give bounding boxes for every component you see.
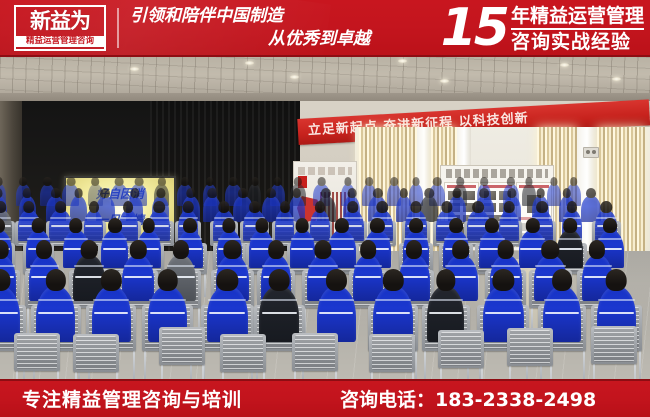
uniform-shoulder-stripe: [484, 299, 522, 301]
uniform-shoulder-stripe: [291, 238, 314, 240]
chair-back-slats: [510, 330, 550, 364]
chair: [292, 333, 338, 371]
audience-head: [441, 201, 452, 213]
audience-head: [0, 177, 2, 186]
uniform-shoulder-stripe: [208, 299, 246, 301]
audience-head: [219, 201, 230, 213]
audience-head: [563, 218, 577, 233]
uniform-reflective-stripe: [429, 312, 462, 314]
uniform-reflective-stripe: [599, 312, 634, 314]
audience-head: [589, 240, 605, 258]
audience-head: [89, 201, 99, 213]
uniform-reflective-stripe: [291, 248, 313, 250]
uniform-shoulder-stripe: [308, 265, 338, 267]
audience-head: [376, 201, 387, 213]
audience-head: [370, 218, 384, 233]
audience-head: [601, 201, 612, 213]
speaker-device-icon: [583, 147, 599, 158]
uniform-shoulder-stripe: [583, 265, 612, 267]
uniform-reflective-stripe: [401, 276, 428, 278]
audience-head: [32, 218, 45, 233]
audience-head: [249, 201, 261, 213]
chair: [220, 334, 266, 372]
footer-band: 专注精益管理咨询与培训 咨询电话：183-2338-2498: [0, 379, 650, 417]
audience-head: [314, 240, 331, 258]
header-divider: [117, 8, 119, 48]
audience-head: [157, 177, 165, 186]
uniform-shoulder-stripe: [598, 238, 623, 240]
uniform-shoulder-stripe: [30, 265, 58, 267]
audience-head: [69, 218, 83, 233]
chair-leg: [639, 349, 641, 379]
chair: [507, 328, 553, 366]
chair-back-slats: [17, 335, 57, 369]
chair-leg: [550, 364, 552, 379]
uniform-shoulder-stripe: [400, 265, 429, 267]
audience-head: [255, 218, 268, 233]
chair-leg: [144, 349, 146, 379]
uniform-reflective-stripe: [559, 248, 582, 250]
uniform-shoulder-stripe: [74, 265, 104, 267]
uniform-shoulder-stripe: [38, 299, 74, 301]
training-photo: 好自因消 一见之情 立足新起点 奋进新征程 以科技创新: [0, 57, 650, 379]
chair-back-slats: [76, 336, 116, 370]
chair: [438, 330, 484, 368]
audience-head: [383, 269, 403, 291]
ceiling-light: [130, 67, 139, 71]
audience-head: [326, 269, 346, 291]
audience-head: [347, 201, 359, 213]
uniform-shoulder-stripe: [102, 238, 127, 240]
audience-head: [223, 218, 236, 233]
audience-member: [310, 210, 330, 241]
uniform-reflective-stripe: [330, 248, 354, 250]
audience-head: [156, 188, 165, 198]
chair-leg: [583, 349, 585, 379]
ceiling-light: [612, 77, 621, 81]
audience-head: [153, 201, 165, 213]
chair-leg: [593, 362, 595, 379]
audience-head: [406, 240, 422, 258]
uniform-reflective-stripe: [209, 312, 245, 314]
uniform-shoulder-stripe: [480, 238, 505, 240]
audience-head: [456, 177, 464, 186]
uniform-shoulder-stripe: [598, 299, 635, 301]
logo-wordmark: 新益为: [30, 8, 90, 34]
audience-member: [84, 210, 103, 241]
audience-head: [606, 269, 627, 291]
audience-head: [344, 177, 351, 186]
audience-member: [275, 210, 294, 241]
audience-head: [347, 188, 356, 198]
audience-head: [551, 177, 558, 186]
audience-member: [101, 230, 128, 268]
uniform-reflective-stripe: [75, 276, 103, 278]
uniform-shoulder-stripe: [468, 217, 489, 219]
experience-badge: 15 年精益运营管理 咨询实战经验: [441, 0, 644, 57]
uniform-reflective-stripe: [319, 312, 353, 314]
uniform-shoulder-stripe: [445, 265, 476, 267]
audience-head: [603, 218, 617, 233]
audience-head: [142, 218, 155, 233]
uniform-reflective-stripe: [355, 276, 382, 278]
audience-head: [436, 269, 455, 291]
audience-head: [449, 218, 463, 233]
uniform-shoulder-stripe: [558, 238, 582, 240]
chair-leg: [202, 363, 204, 379]
uniform-shoulder-stripe: [544, 299, 579, 301]
company-logo: 新益为 精益运营管理咨询: [14, 5, 106, 51]
ceiling-light: [440, 79, 449, 83]
uniform-shoulder-stripe: [64, 238, 88, 240]
audience-head: [433, 177, 442, 186]
audience-head: [335, 218, 349, 233]
ceiling-light: [245, 61, 254, 65]
audience-head: [563, 188, 571, 198]
audience-head: [229, 177, 238, 186]
header-slogan: 引领和陪伴中国制造 从优秀到卓越: [128, 5, 378, 53]
uniform-shoulder-stripe: [0, 299, 19, 301]
experience-line-2: 咨询实战经验: [511, 30, 644, 53]
audience-head: [100, 188, 110, 198]
audience-head: [183, 218, 197, 233]
ceiling-light: [398, 59, 407, 63]
audience-head: [92, 177, 100, 186]
audience-head: [186, 188, 195, 198]
audience-head: [365, 177, 373, 186]
audience-head: [507, 177, 515, 186]
uniform-reflective-stripe: [51, 225, 71, 227]
chair-leg: [161, 363, 163, 379]
audience-head: [43, 177, 51, 186]
uniform-reflective-stripe: [485, 312, 521, 314]
uniform-reflective-stripe: [545, 312, 579, 314]
audience-head: [251, 177, 258, 186]
audience-head: [390, 177, 398, 186]
chair-leg: [440, 366, 442, 379]
uniform-reflective-stripe: [150, 312, 185, 314]
chair-back-slats: [372, 336, 412, 370]
audience-head: [0, 201, 6, 213]
chair-leg: [509, 364, 511, 379]
uniform-reflective-stripe: [0, 312, 18, 314]
uniform-reflective-stripe: [120, 225, 137, 227]
experience-line-1: 年精益运营管理: [511, 5, 644, 30]
audience-head: [23, 188, 32, 198]
uniform-shoulder-stripe: [250, 238, 273, 240]
uniform-reflective-stripe: [85, 225, 102, 227]
audience-head: [51, 188, 61, 198]
audience-head: [315, 201, 325, 213]
audience-head: [0, 240, 8, 258]
uniform-shoulder-stripe: [535, 265, 566, 267]
uniform-shoulder-stripe: [520, 238, 545, 240]
audience-member: [547, 184, 561, 206]
experience-text: 年精益运营管理 咨询实战经验: [511, 5, 644, 53]
chair-leg: [204, 272, 206, 297]
uniform-shoulder-stripe: [354, 265, 382, 267]
audience-head: [373, 188, 383, 198]
uniform-shoulder-stripe: [124, 265, 153, 267]
audience-head: [130, 240, 146, 258]
board-header-text: [298, 167, 352, 175]
chair: [591, 326, 637, 364]
audience-head: [321, 188, 331, 198]
audience-head: [570, 177, 578, 186]
uniform-shoulder-stripe: [167, 265, 196, 267]
audience-head: [123, 201, 133, 213]
audience-head: [206, 177, 213, 186]
uniform-shoulder-stripe: [0, 265, 15, 267]
promo-banner-image: 新益为 精益运营管理咨询 引领和陪伴中国制造 从优秀到卓越 15 年精益运营管理…: [0, 0, 650, 417]
chair-back-slats: [162, 329, 202, 363]
uniform-shoulder-stripe: [217, 265, 248, 267]
audience-head: [497, 240, 514, 258]
audience-head: [567, 201, 577, 213]
header-band: 新益为 精益运营管理咨询 引领和陪伴中国制造 从优秀到卓越 15 年精益运营管理…: [0, 0, 650, 57]
chair-back-slats: [223, 336, 263, 370]
audience-head: [134, 177, 143, 186]
uniform-shoulder-stripe: [149, 299, 185, 301]
audience-head: [274, 177, 282, 186]
audience-head: [45, 269, 65, 291]
uniform-shoulder-stripe: [120, 217, 138, 219]
chair-leg: [481, 366, 483, 379]
ceiling-light: [560, 63, 569, 67]
audience-head: [74, 188, 83, 198]
uniform-reflective-stripe: [94, 312, 128, 314]
audience-head: [269, 269, 290, 291]
audience-head: [480, 177, 488, 186]
audience-head: [266, 188, 276, 198]
audience-head: [525, 177, 532, 186]
chair: [369, 334, 415, 372]
chair-leg: [415, 349, 417, 379]
uniform-shoulder-stripe: [311, 217, 329, 219]
audience-head: [238, 188, 248, 198]
audience-head: [504, 201, 515, 213]
audience-head: [453, 188, 462, 198]
uniform-shoulder-stripe: [329, 238, 354, 240]
ceiling-light: [290, 75, 299, 79]
uniform-reflective-stripe: [124, 276, 152, 278]
uniform-shoulder-stripe: [93, 299, 129, 301]
chair: [14, 333, 60, 371]
uniform-shoulder-stripe: [262, 265, 290, 267]
uniform-shoulder-stripe: [261, 299, 298, 301]
uniform-shoulder-stripe: [375, 299, 411, 301]
audience-head: [55, 201, 67, 213]
chair-leg: [634, 362, 636, 379]
footer-slogan: 专注精益管理咨询与培训: [22, 385, 242, 412]
footer-phone: 咨询电话：183-2338-2498: [340, 385, 596, 412]
audience-head: [81, 240, 98, 258]
slogan-line-2: 从优秀到卓越: [128, 28, 378, 51]
chair-leg: [424, 349, 426, 379]
audience-head: [183, 201, 194, 213]
audience-head: [493, 269, 514, 291]
logo-tagline: 精益运营管理咨询: [16, 36, 104, 47]
audience-head: [317, 177, 326, 186]
audience-head: [130, 188, 139, 198]
audience-head: [586, 188, 596, 198]
uniform-reflective-stripe: [276, 225, 293, 227]
audience-head: [157, 269, 178, 291]
audience-head: [108, 218, 122, 233]
chair: [73, 334, 119, 372]
uniform-shoulder-stripe: [50, 217, 71, 219]
chair-leg: [133, 349, 135, 379]
audience-head: [181, 177, 189, 186]
uniform-shoulder-stripe: [85, 217, 103, 219]
uniform-shoulder-stripe: [491, 265, 520, 267]
audience-head: [552, 269, 572, 291]
audience-head: [23, 201, 34, 213]
chair-leg: [27, 306, 29, 336]
uniform-reflective-stripe: [103, 248, 127, 250]
audience-head: [101, 269, 121, 291]
uniform-shoulder-stripe: [499, 217, 518, 219]
audience-head: [536, 201, 548, 213]
uniform-reflective-stripe: [376, 312, 411, 314]
chair-back-slats: [295, 335, 335, 369]
audience-head: [479, 188, 489, 198]
uniform-reflective-stripe: [38, 312, 72, 314]
audience-head: [294, 177, 302, 186]
audience-head: [507, 188, 516, 198]
audience-head: [485, 218, 499, 233]
audience-head: [217, 269, 238, 291]
audience-member: [122, 255, 154, 301]
chair: [159, 327, 205, 365]
uniform-reflective-stripe: [311, 225, 328, 227]
audience-head: [542, 240, 560, 258]
audience-head: [536, 188, 545, 198]
audience-head: [224, 240, 241, 258]
audience-head: [173, 240, 189, 258]
audience-head: [424, 188, 434, 198]
uniform-shoulder-stripe: [429, 299, 463, 301]
audience-head: [452, 240, 470, 258]
audience-head: [399, 188, 407, 198]
audience-head: [115, 177, 124, 186]
audience-head: [19, 177, 27, 186]
chair-back-slats: [441, 332, 481, 366]
uniform-shoulder-stripe: [276, 217, 294, 219]
audience-head: [360, 240, 376, 258]
ceiling: [0, 57, 650, 101]
audience-head: [525, 218, 539, 233]
slogan-line-1: 引领和陪伴中国制造: [128, 5, 378, 28]
audience-head: [208, 188, 217, 198]
uniform-reflective-stripe: [500, 225, 518, 227]
audience-head: [409, 218, 423, 233]
chair-back-slats: [594, 328, 634, 362]
audience-head: [411, 201, 422, 213]
audience-head: [292, 188, 300, 198]
audience-head: [268, 240, 284, 258]
uniform-reflective-stripe: [262, 312, 297, 314]
audience-head: [296, 218, 309, 233]
audience-head: [472, 201, 484, 213]
uniform-shoulder-stripe: [319, 299, 355, 301]
audience-head: [36, 240, 52, 258]
audience-head: [412, 177, 419, 186]
audience-head: [280, 201, 290, 213]
experience-number: 15: [441, 2, 507, 54]
audience-head: [66, 177, 75, 186]
